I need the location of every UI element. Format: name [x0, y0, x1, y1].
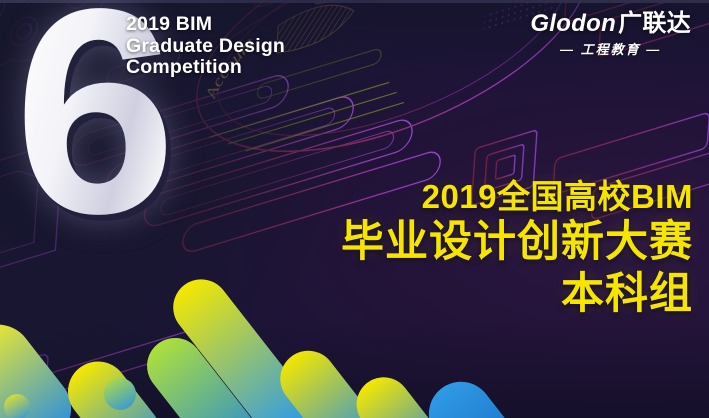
logo-tagline: — 工程教育 — [530, 39, 691, 58]
top-border-line [0, 0, 709, 3]
poster-banner: Account 6 2019 BIM Graduate Design Compe… [0, 0, 709, 418]
poster-title-line1: 2019全国高校BIM [341, 178, 693, 216]
logo-brand: Glodon广联达 [530, 10, 691, 37]
poster-title: 2019全国高校BIM 毕业设计创新大赛 本科组 [341, 178, 693, 320]
poster-title-line2: 毕业设计创新大赛 [341, 216, 693, 268]
english-heading-line2: Graduate Design [126, 36, 285, 58]
english-heading-line1: 2019 BIM [126, 14, 285, 36]
english-heading: 2019 BIM Graduate Design Competition [126, 14, 285, 79]
logo-brand-latin: Glodon [530, 10, 616, 37]
glodon-logo: Glodon广联达 — 工程教育 — [530, 10, 691, 58]
logo-brand-cn: 广联达 [618, 10, 691, 37]
english-heading-line3: Competition [126, 57, 285, 79]
poster-title-line3: 本科组 [341, 268, 693, 320]
